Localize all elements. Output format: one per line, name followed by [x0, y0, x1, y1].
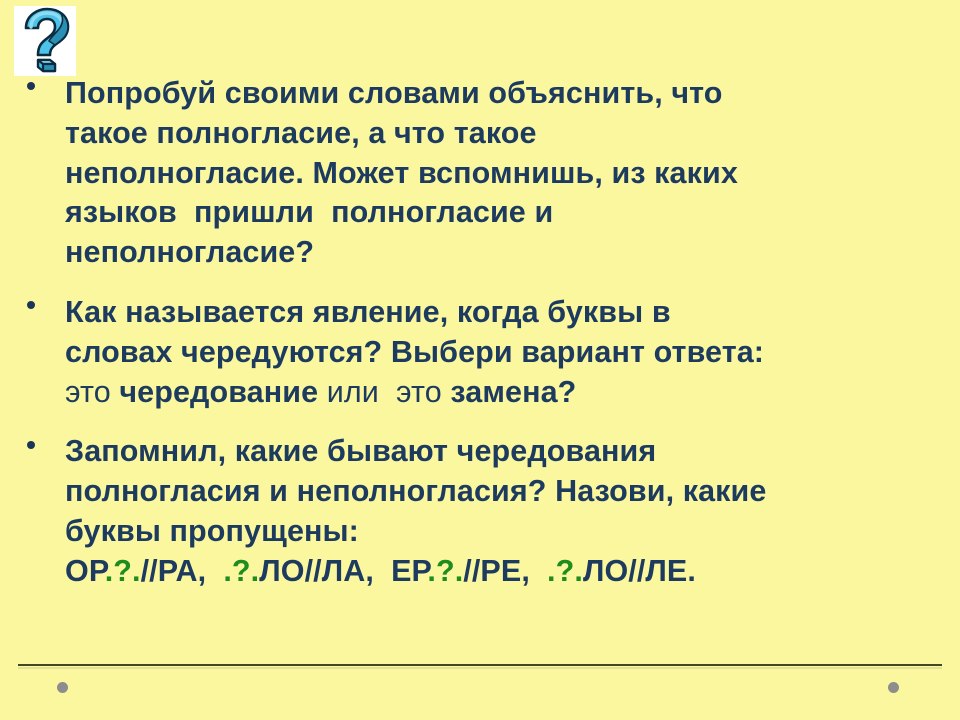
footer-rule [18, 664, 942, 666]
text-run: Как называется явление, когда буквы в [65, 295, 679, 329]
footer-rule-shadow [18, 667, 942, 669]
bullet-item: Попробуй своими словами объяснить, что т… [0, 74, 960, 273]
footer-dot-left [57, 682, 68, 693]
text-run: чередование [119, 375, 326, 409]
bullet-line: Попробуй своими словами объяснить, что [65, 74, 950, 114]
text-run: замена? [450, 375, 576, 409]
bullet-line: полногласия и неполногласия? Назови, как… [65, 472, 950, 512]
text-run: это [65, 375, 119, 409]
bullet-line: неполногласие. Может вспомнишь, из каких [65, 154, 950, 194]
bullet-line: такое полногласие, а что такое [65, 114, 950, 154]
bullet-line: языков пришли полногласие и [65, 193, 950, 233]
bullet-line: Как называется явление, когда буквы в [65, 293, 950, 333]
bullet-line: это чередование или это замена? [65, 373, 950, 413]
text-run: .?. [427, 554, 463, 588]
text-run: ОР [65, 554, 105, 588]
bullet-text: Попробуй своими словами объяснить, что т… [65, 74, 950, 273]
text-run: неполногласие? [65, 235, 314, 269]
text-run: словах чередуются? Выбери вариант ответа… [65, 335, 764, 369]
bullet-item: Как называется явление, когда буквы в сл… [0, 293, 960, 412]
text-run: неполногласие. Может вспомнишь, из каких [65, 156, 746, 190]
footer-dot-right [888, 682, 899, 693]
text-run: //РЕ, [463, 554, 547, 588]
text-run: или это [327, 375, 451, 409]
text-run: //РА, [141, 554, 224, 588]
text-run: буквы пропущены: [65, 514, 359, 548]
text-run: языков пришли полногласие и [65, 195, 562, 229]
slide-canvas: Попробуй своими словами объяснить, что т… [0, 0, 960, 720]
text-run: ЛО//ЛА, ЕР [259, 554, 427, 588]
text-run: полногласия и неполногласия? Назови, как… [65, 474, 775, 508]
bullet-line: словах чередуются? Выбери вариант ответа… [65, 333, 950, 373]
text-run: Попробуй своими словами объяснить, что [65, 76, 731, 110]
bullet-line: буквы пропущены: [65, 512, 950, 552]
bullet-marker-icon [27, 301, 35, 309]
bullet-line: Запомнил, какие бывают чередования [65, 432, 950, 472]
text-run: Запомнил, какие бывают чередования [65, 434, 665, 468]
bullet-line: неполногласие? [65, 233, 950, 273]
bullet-line: ОР.?.//РА, .?.ЛО//ЛА, ЕР.?.//РЕ, .?.ЛО//… [65, 552, 950, 592]
bullet-marker-icon [27, 441, 35, 449]
bullet-list: Попробуй своими словами объяснить, что т… [0, 74, 960, 592]
text-run: .?. [223, 554, 259, 588]
bullet-marker-icon [27, 82, 35, 90]
text-run: ЛО//ЛЕ. [583, 554, 696, 588]
text-run: .?. [547, 554, 583, 588]
question-mark-icon [14, 6, 76, 76]
bullet-text: Запомнил, какие бывают чередования полно… [65, 432, 950, 591]
bullet-item: Запомнил, какие бывают чередования полно… [0, 432, 960, 591]
text-run: такое полногласие, а что такое [65, 116, 545, 150]
text-run: .?. [105, 554, 141, 588]
bullet-text: Как называется явление, когда буквы в сл… [65, 293, 950, 412]
